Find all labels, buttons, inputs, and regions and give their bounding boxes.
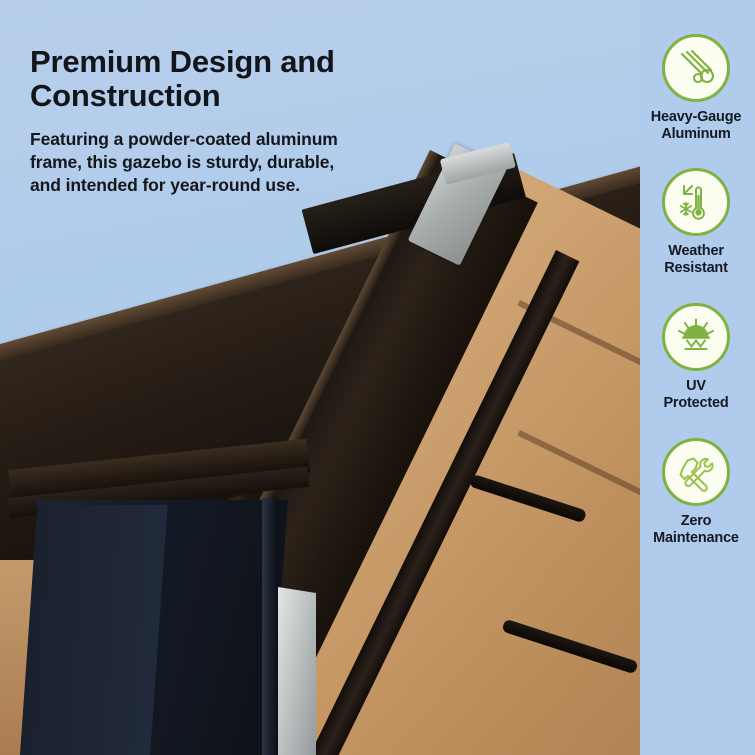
page-title: Premium Design and Construction: [30, 45, 390, 114]
hammer-wrench-icon: [662, 438, 730, 506]
sun-uv-icon: [662, 303, 730, 371]
post-edge: [262, 498, 278, 755]
feature-badge-weather-resistant[interactable]: Weather Resistant: [646, 168, 746, 277]
aluminum-tubes-icon: [662, 34, 730, 102]
feature-badge-list: Heavy-Gauge Aluminum W: [637, 0, 755, 755]
page-description: Featuring a powder-coated aluminum frame…: [30, 128, 366, 198]
post-face: [18, 505, 167, 755]
infographic-panel: Premium Design and Construction Featurin…: [0, 0, 755, 755]
post-metal-accent: [278, 587, 316, 755]
feature-badge-label: UV Protected: [646, 378, 746, 412]
thermometer-snowflake-icon: [662, 168, 730, 236]
feature-badge-uv-protected[interactable]: UV Protected: [646, 303, 746, 412]
feature-badge-label: Zero Maintenance: [646, 513, 746, 547]
feature-badge-label: Heavy-Gauge Aluminum: [646, 109, 746, 143]
feature-badge-label: Weather Resistant: [646, 243, 746, 277]
feature-badge-heavy-gauge-aluminum[interactable]: Heavy-Gauge Aluminum: [646, 34, 746, 143]
feature-badge-zero-maintenance[interactable]: Zero Maintenance: [646, 438, 746, 547]
